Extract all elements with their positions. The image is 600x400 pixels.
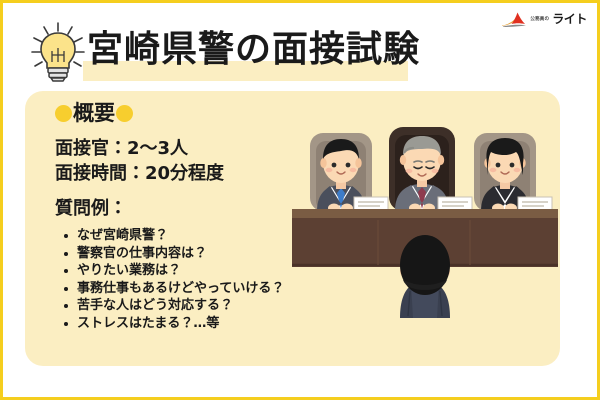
slide-header: 宮崎県警の面接試験 xyxy=(3,17,597,87)
bullet-dot-left-icon xyxy=(55,105,72,122)
section-heading-label: 概要 xyxy=(73,103,115,124)
overview-card: 概要 面接官：2〜3人 面接時間：20分程度 質問例： なぜ宮崎県警？ 警察官の… xyxy=(25,91,560,366)
lightbulb-icon xyxy=(29,21,87,83)
bullet-dot-right-icon xyxy=(116,105,133,122)
slide-root: 公務員の ライト 宮崎県警の面接試験 xyxy=(0,0,600,400)
interview-panel-illustration xyxy=(290,105,560,360)
page-title: 宮崎県警の面接試験 xyxy=(87,23,420,77)
candidate-back-view xyxy=(400,235,450,318)
page-title-wrap: 宮崎県警の面接試験 xyxy=(87,23,420,81)
